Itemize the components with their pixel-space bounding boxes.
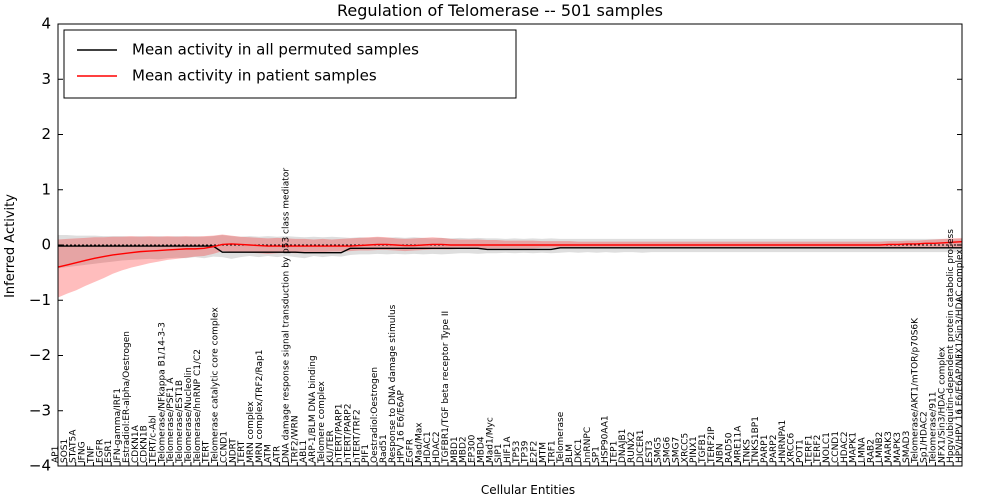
chart-svg: −4−3−2−101234 AP1SOS1STAT5AIFNGTNFEGFRES…	[0, 0, 1000, 500]
y-tick-label: 2	[41, 125, 51, 143]
x-axis-label: Cellular Entities	[481, 483, 575, 497]
chart-legend: Mean activity in all permuted samplesMea…	[64, 30, 516, 98]
x-axis-ticks: AP1SOS1STAT5AIFNGTNFEGFRESR1IFN-gamma/IR…	[51, 168, 965, 466]
y-tick-label: −2	[29, 346, 51, 364]
legend-label: Mean activity in all permuted samples	[132, 41, 419, 59]
y-tick-label: 3	[41, 70, 51, 88]
y-tick-label: 4	[41, 15, 51, 33]
legend-label: Mean activity in patient samples	[132, 67, 377, 85]
confidence-bands	[58, 235, 962, 298]
y-tick-label: 1	[41, 180, 51, 198]
y-tick-label: −4	[29, 457, 51, 475]
y-axis-label: Inferred Activity	[3, 194, 18, 298]
plot-area	[58, 235, 962, 298]
y-tick-label: 0	[41, 236, 51, 254]
chart-figure: −4−3−2−101234 AP1SOS1STAT5AIFNGTNFEGFRES…	[0, 0, 1000, 500]
chart-title: Regulation of Telomerase -- 501 samples	[337, 1, 663, 20]
y-tick-label: −3	[29, 401, 51, 419]
y-tick-label: −1	[29, 291, 51, 309]
x-tick-label: HPV/HPV 16 E6/E6AP/NFX1/Sin3/HDAC comple…	[955, 249, 965, 463]
patient-confidence-band	[58, 235, 962, 298]
